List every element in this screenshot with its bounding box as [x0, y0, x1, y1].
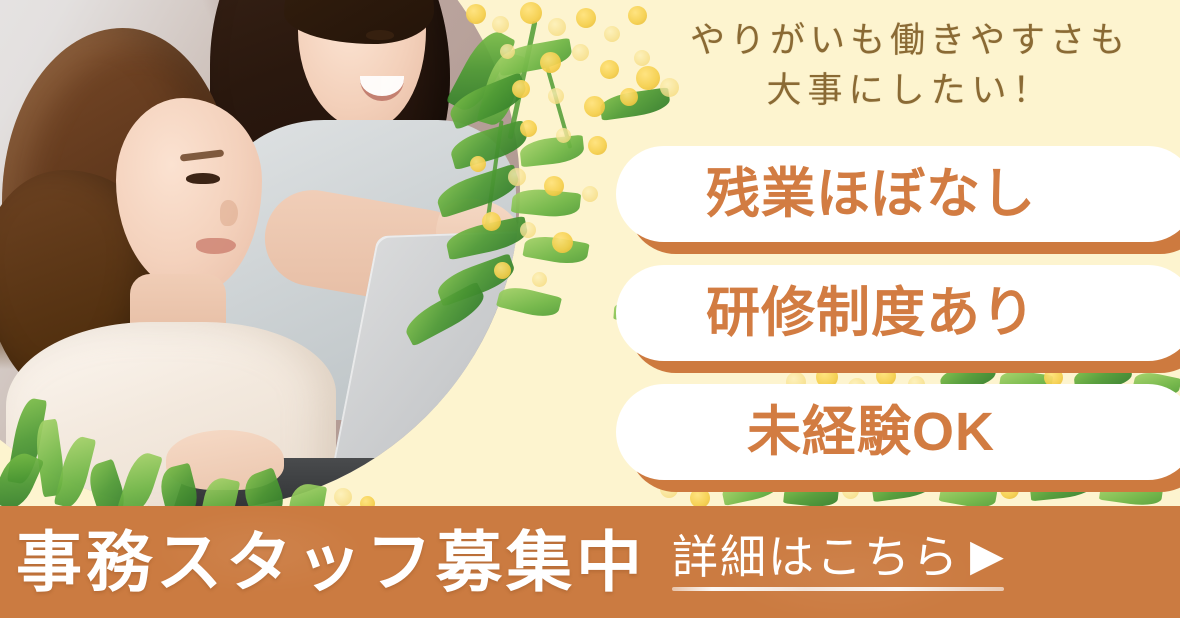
pill-body[interactable]: 未経験OK [616, 384, 1180, 480]
cta-row[interactable]: 詳細はこちら ▶ [672, 533, 1004, 581]
tagline-line-1: やりがいも働きやすさも [660, 16, 1160, 66]
pill-label: 未経験OK [747, 405, 995, 459]
cta-underline [672, 587, 1004, 591]
bottom-cta-bar[interactable]: 事務スタッフ募集中 詳細はこちら ▶ [0, 506, 1180, 618]
play-arrow-icon: ▶ [970, 534, 1004, 578]
feature-pill-list: 残業ほぼなし 研修制度あり 未経験OK [616, 146, 1180, 503]
cta-details-link[interactable]: 詳細はこちら ▶ [672, 533, 1004, 590]
headline: 事務スタッフ募集中 [16, 529, 646, 595]
woman-front-eye [186, 173, 220, 184]
feature-pill-3[interactable]: 未経験OK [616, 384, 1180, 480]
feature-pill-2[interactable]: 研修制度あり [616, 265, 1180, 361]
feature-pill-1[interactable]: 残業ほぼなし [616, 146, 1180, 242]
woman-front-nose [220, 200, 238, 226]
pill-label: 残業ほぼなし [706, 167, 1036, 221]
woman-back-eye [366, 30, 394, 40]
tagline: やりがいも働きやすさも 大事にしたい！ [660, 16, 1160, 115]
pill-body[interactable]: 研修制度あり [616, 265, 1180, 361]
cta-label: 詳細はこちら [672, 533, 960, 581]
photo-two-women-at-laptop [0, 0, 520, 510]
pill-label: 研修制度あり [706, 286, 1036, 340]
pill-body[interactable]: 残業ほぼなし [616, 146, 1180, 242]
recruitment-banner: やりがいも働きやすさも 大事にしたい！ 残業ほぼなし 研修制度あり 未経験OK … [0, 0, 1180, 618]
tagline-line-2: 大事にしたい！ [660, 66, 1160, 116]
